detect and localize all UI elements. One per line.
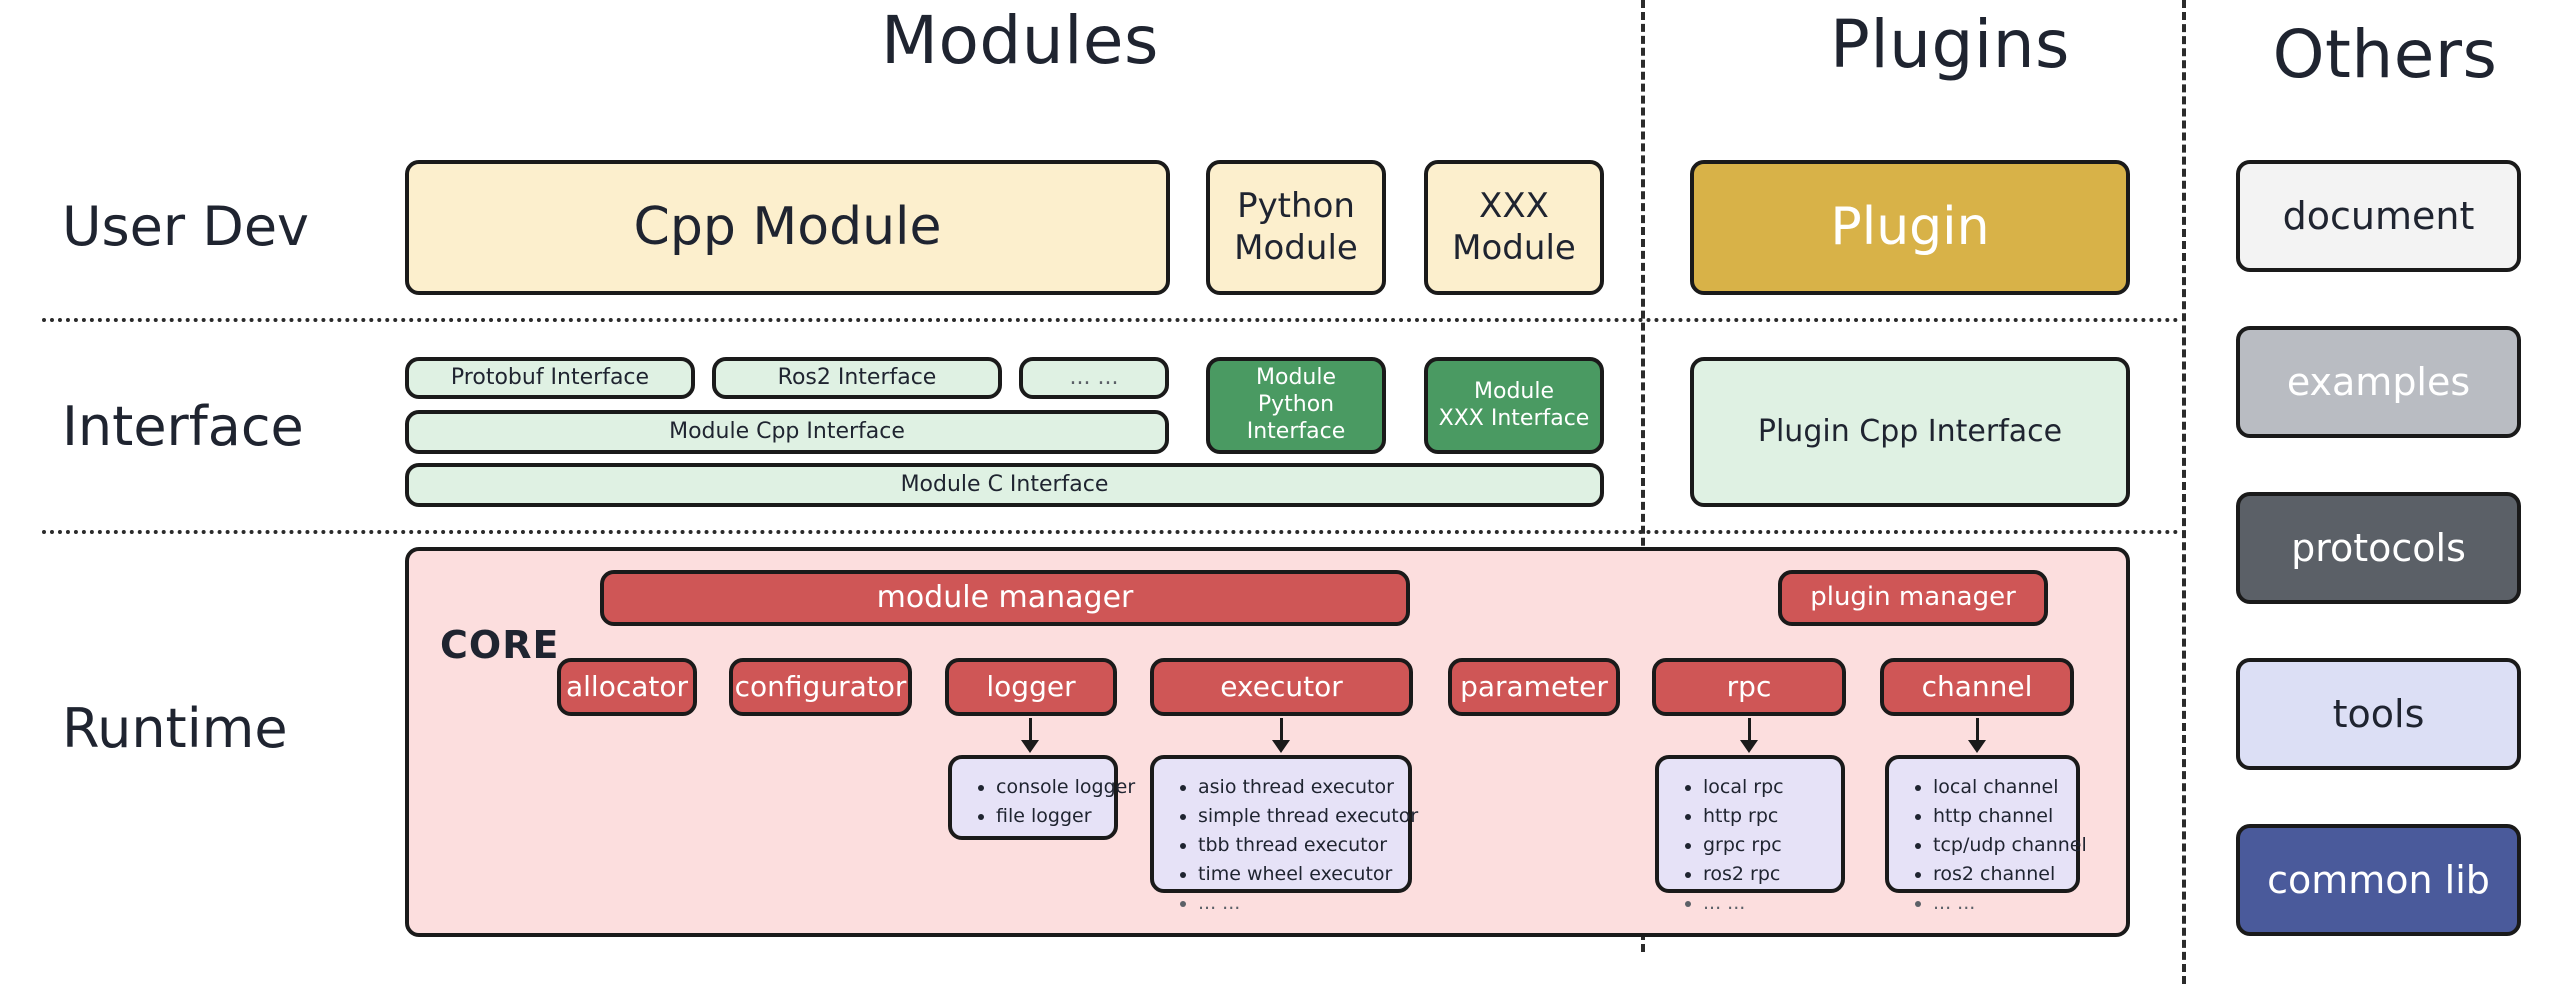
list-item: local rpc (1703, 773, 1829, 802)
node-executor[interactable]: executor (1150, 658, 1413, 716)
node-others-document[interactable]: document (2236, 160, 2521, 272)
list-item: ... ... (1198, 889, 1396, 918)
node-module-c-interface[interactable]: Module C Interface (405, 463, 1604, 507)
node-plugin-manager[interactable]: plugin manager (1778, 570, 2048, 626)
column-title-others: Others (2220, 22, 2550, 88)
column-title-modules: Modules (405, 8, 1635, 74)
list-item: console logger (996, 773, 1102, 802)
list-item: grpc rpc (1703, 831, 1829, 860)
node-module-xxx-interface-line2: XXX Interface (1439, 406, 1590, 433)
channel-details-list: local channel http channel tcp/udp chann… (1907, 773, 2064, 917)
separator-plugins-others (2182, 0, 2186, 984)
list-logger-details[interactable]: console logger file logger (948, 755, 1118, 840)
core-label: CORE (440, 623, 559, 667)
node-module-python-interface[interactable]: Module Python Interface (1206, 357, 1386, 454)
node-xxx-module-line1: XXX (1479, 186, 1549, 227)
list-item: tbb thread executor (1198, 831, 1396, 860)
list-item: asio thread executor (1198, 773, 1396, 802)
node-xxx-module-line2: Module (1452, 228, 1576, 269)
node-rpc[interactable]: rpc (1652, 658, 1846, 716)
list-rpc-details[interactable]: local rpc http rpc grpc rpc ros2 rpc ...… (1655, 755, 1845, 893)
node-allocator[interactable]: allocator (557, 658, 697, 716)
separator-interface-runtime (42, 530, 2180, 534)
separator-userdev-interface (42, 318, 2180, 322)
node-module-python-interface-line2: Python Interface (1218, 392, 1374, 446)
node-configurator[interactable]: configurator (729, 658, 912, 716)
node-module-xxx-interface-line1: Module (1474, 379, 1554, 406)
node-python-module-line2: Module (1234, 228, 1358, 269)
row-label-runtime: Runtime (62, 702, 392, 756)
node-python-module-line1: Python (1237, 186, 1355, 227)
list-item: file logger (996, 802, 1102, 831)
arrow-channel-icon (1968, 740, 1986, 753)
node-module-cpp-interface[interactable]: Module Cpp Interface (405, 410, 1169, 454)
list-item: simple thread executor (1198, 802, 1396, 831)
arrow-rpc-line (1748, 718, 1751, 742)
list-item: ... ... (1703, 889, 1829, 918)
row-label-interface: Interface (62, 400, 392, 454)
list-item: ros2 channel (1933, 860, 2064, 889)
node-plugin[interactable]: Plugin (1690, 160, 2130, 295)
node-python-module[interactable]: Python Module (1206, 160, 1386, 295)
row-label-user-dev: User Dev (62, 200, 392, 254)
node-others-tools[interactable]: tools (2236, 658, 2521, 770)
list-item: time wheel executor (1198, 860, 1396, 889)
arrow-channel-line (1976, 718, 1979, 742)
logger-details-list: console logger file logger (970, 773, 1102, 831)
list-item: http rpc (1703, 802, 1829, 831)
node-other-interface-ellipsis[interactable]: ... ... (1019, 357, 1169, 399)
arrow-logger-line (1029, 718, 1032, 742)
arrow-executor-line (1280, 718, 1283, 742)
node-cpp-module[interactable]: Cpp Module (405, 160, 1170, 295)
list-executor-details[interactable]: asio thread executor simple thread execu… (1150, 755, 1412, 893)
list-item: local channel (1933, 773, 2064, 802)
list-item: ros2 rpc (1703, 860, 1829, 889)
rpc-details-list: local rpc http rpc grpc rpc ros2 rpc ...… (1677, 773, 1829, 917)
arrow-executor-icon (1272, 740, 1290, 753)
node-plugin-cpp-interface[interactable]: Plugin Cpp Interface (1690, 357, 2130, 507)
list-item: ... ... (1933, 889, 2064, 918)
node-protobuf-interface[interactable]: Protobuf Interface (405, 357, 695, 399)
column-title-plugins: Plugins (1660, 12, 2240, 78)
node-parameter[interactable]: parameter (1448, 658, 1620, 716)
arrow-rpc-icon (1740, 740, 1758, 753)
arrow-logger-icon (1021, 740, 1039, 753)
node-module-xxx-interface[interactable]: Module XXX Interface (1424, 357, 1604, 454)
node-module-manager[interactable]: module manager (600, 570, 1410, 626)
architecture-diagram: Modules Plugins Others User Dev Interfac… (0, 0, 2560, 984)
list-item: tcp/udp channel (1933, 831, 2064, 860)
node-channel[interactable]: channel (1880, 658, 2074, 716)
node-module-python-interface-line1: Module (1256, 365, 1336, 392)
list-channel-details[interactable]: local channel http channel tcp/udp chann… (1885, 755, 2080, 893)
node-others-examples[interactable]: examples (2236, 326, 2521, 438)
node-others-common-lib[interactable]: common lib (2236, 824, 2521, 936)
node-ros2-interface[interactable]: Ros2 Interface (712, 357, 1002, 399)
executor-details-list: asio thread executor simple thread execu… (1172, 773, 1396, 917)
list-item: http channel (1933, 802, 2064, 831)
node-xxx-module[interactable]: XXX Module (1424, 160, 1604, 295)
node-logger[interactable]: logger (945, 658, 1117, 716)
node-others-protocols[interactable]: protocols (2236, 492, 2521, 604)
